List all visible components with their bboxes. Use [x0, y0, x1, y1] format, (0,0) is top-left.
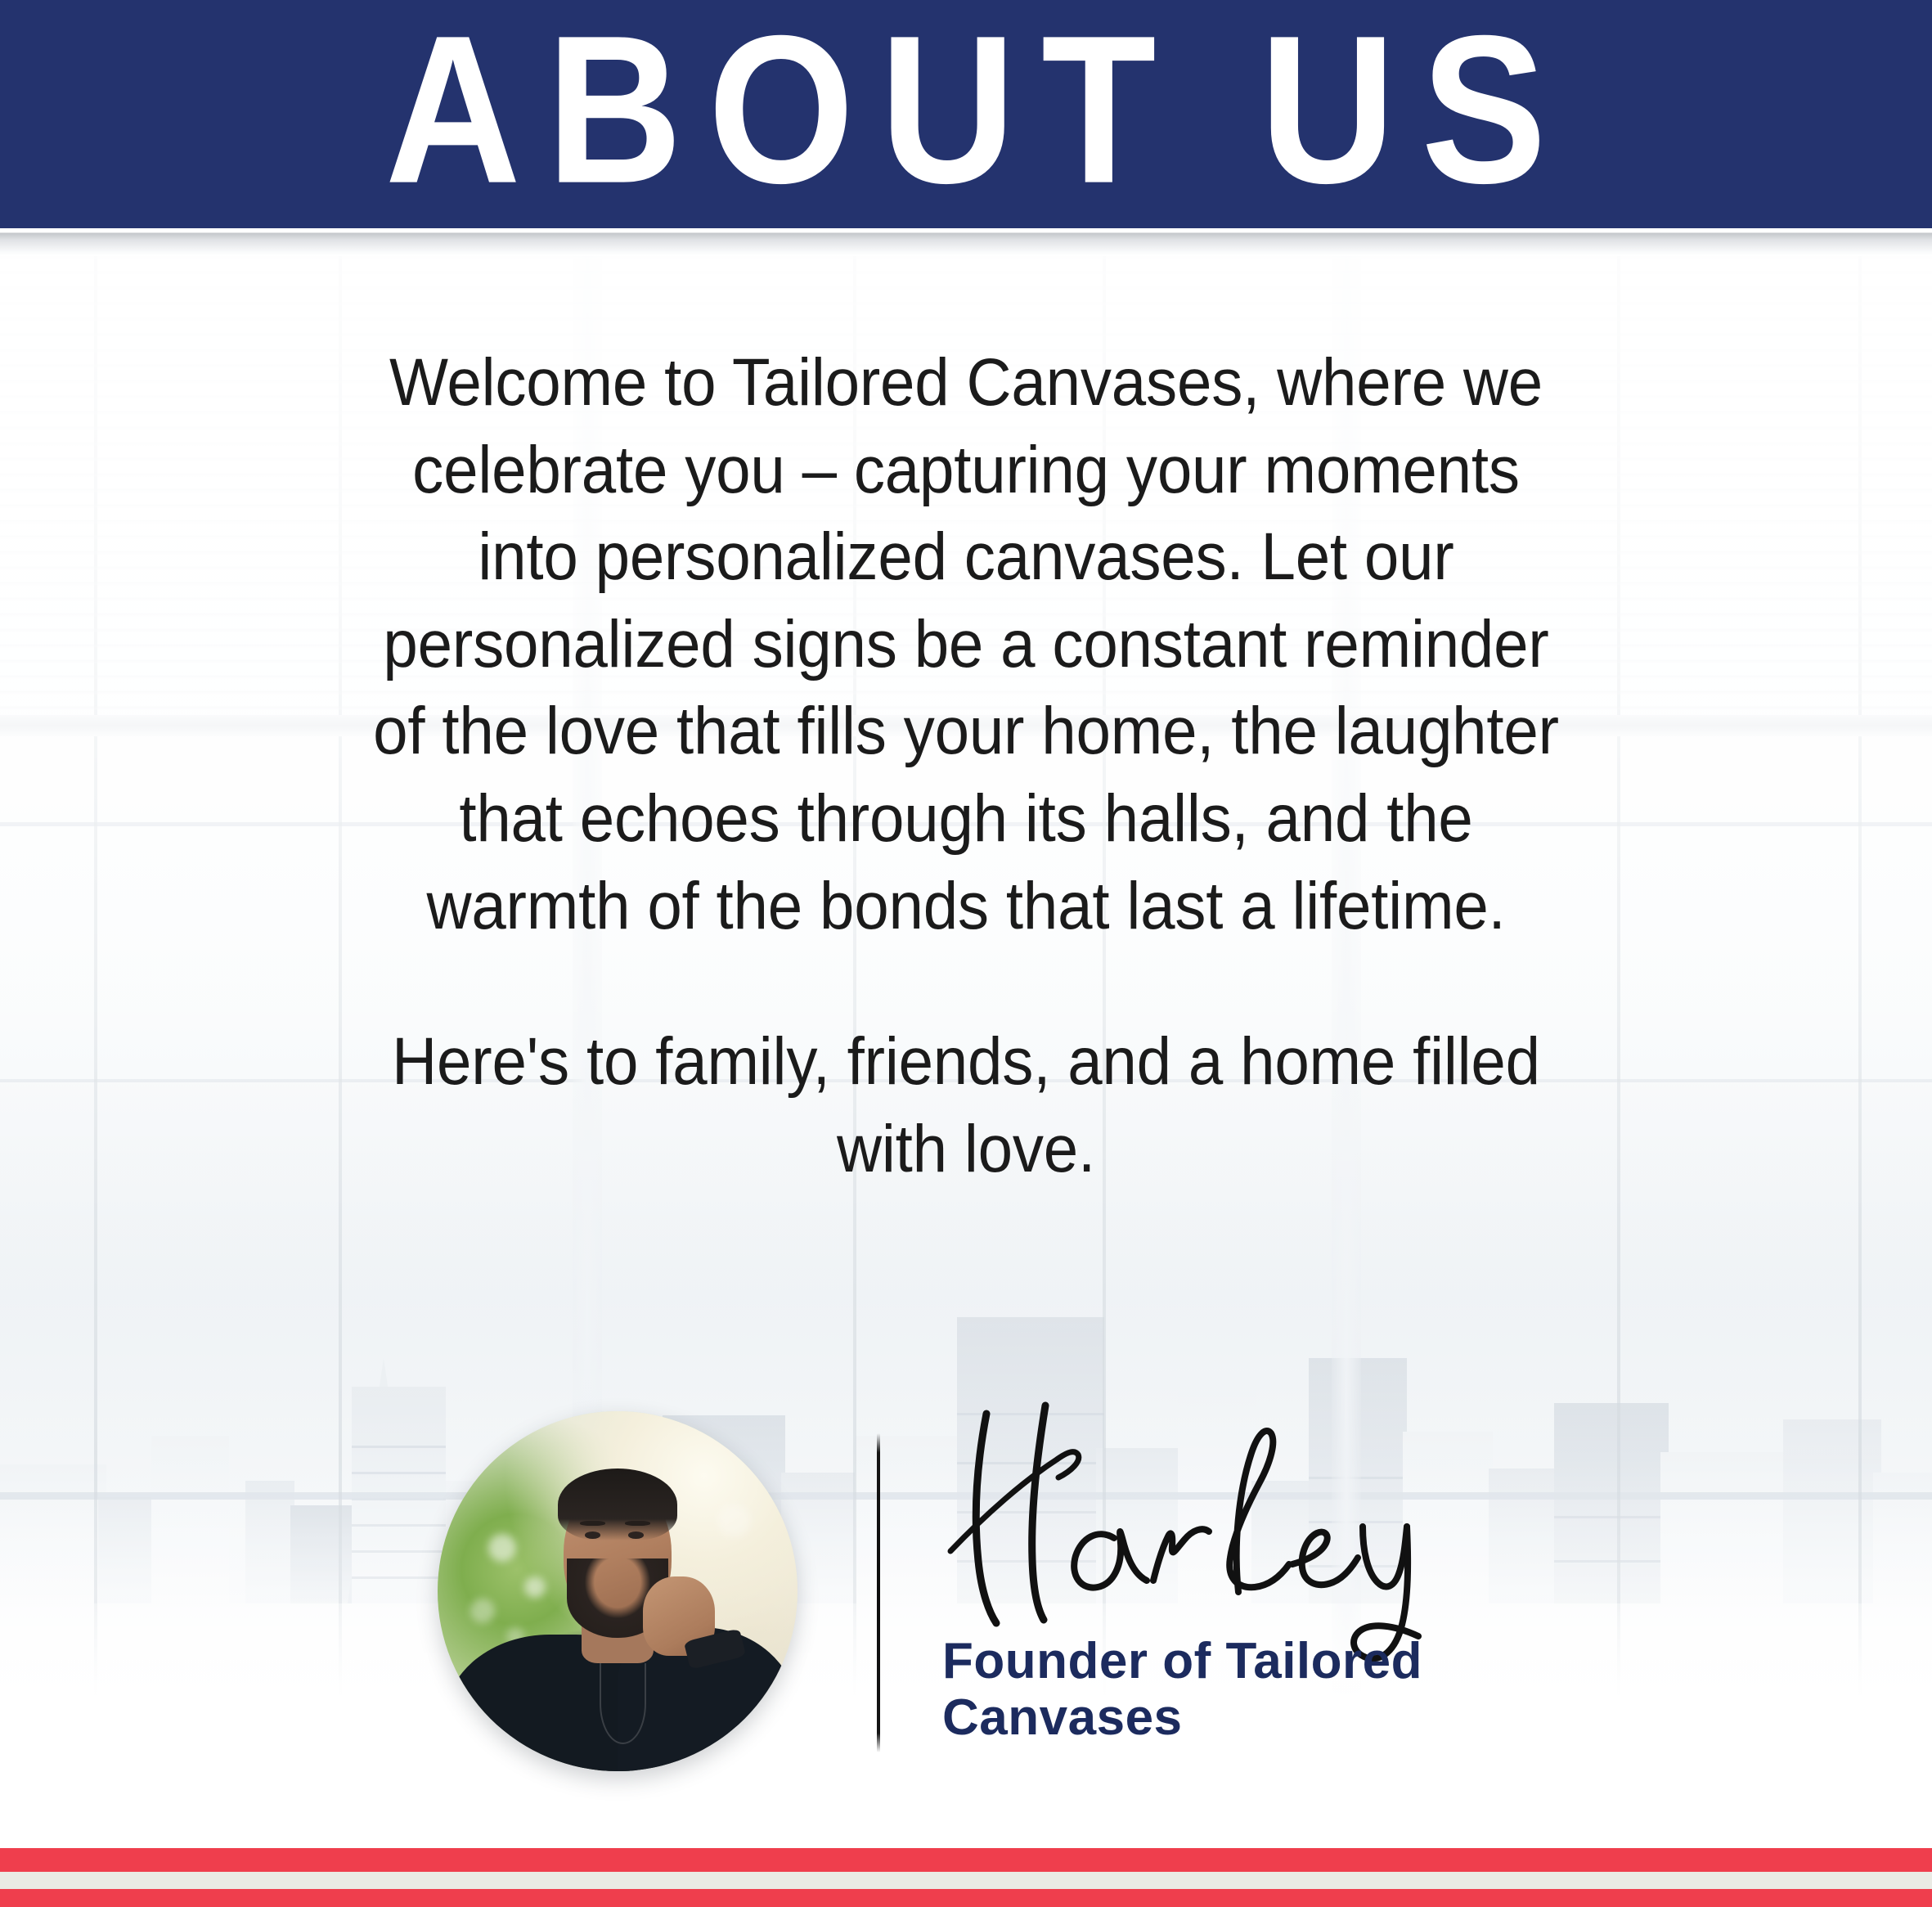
copy-line-1: Welcome to Tailored Canvases, where we	[273, 340, 1659, 427]
copy-line-6: that echoes through its halls, and the	[273, 776, 1659, 863]
founder-portrait-photo	[438, 1411, 798, 1771]
header-bar: ABOUT US	[0, 0, 1932, 228]
avatar	[438, 1411, 798, 1771]
copy-line-5: of the love that fills your home, the la…	[273, 688, 1659, 776]
accent-bar-gap	[0, 1872, 1932, 1889]
copy-line-7: warmth of the bonds that last a lifetime…	[273, 863, 1659, 951]
founder-title-line-2: Canvases	[942, 1689, 1728, 1746]
signature-divider	[877, 1433, 880, 1752]
paragraph-spacer	[273, 950, 1659, 1019]
signature-harley	[908, 1391, 1530, 1669]
copy-line-3: into personalized canvases. Let our	[273, 514, 1659, 601]
accent-bar-bottom	[0, 1889, 1932, 1907]
about-us-copy: Welcome to Tailored Canvases, where we c…	[273, 340, 1659, 1193]
founder-title-line-1: Founder of Tailored	[942, 1633, 1728, 1689]
copy-line-9: with love.	[273, 1106, 1659, 1194]
copy-line-2: celebrate you – capturing your moments	[273, 427, 1659, 515]
founder-title: Founder of Tailored Canvases	[942, 1633, 1728, 1747]
about-us-poster: ABOUT US Welcome to Tailored Canvases, w…	[0, 0, 1932, 1907]
page-title: ABOUT US	[360, 4, 1573, 215]
copy-line-4: personalized signs be a constant reminde…	[273, 601, 1659, 689]
copy-line-8: Here's to family, friends, and a home fi…	[273, 1019, 1659, 1106]
accent-bar-top	[0, 1848, 1932, 1872]
header-drop-shadow	[0, 228, 1932, 256]
